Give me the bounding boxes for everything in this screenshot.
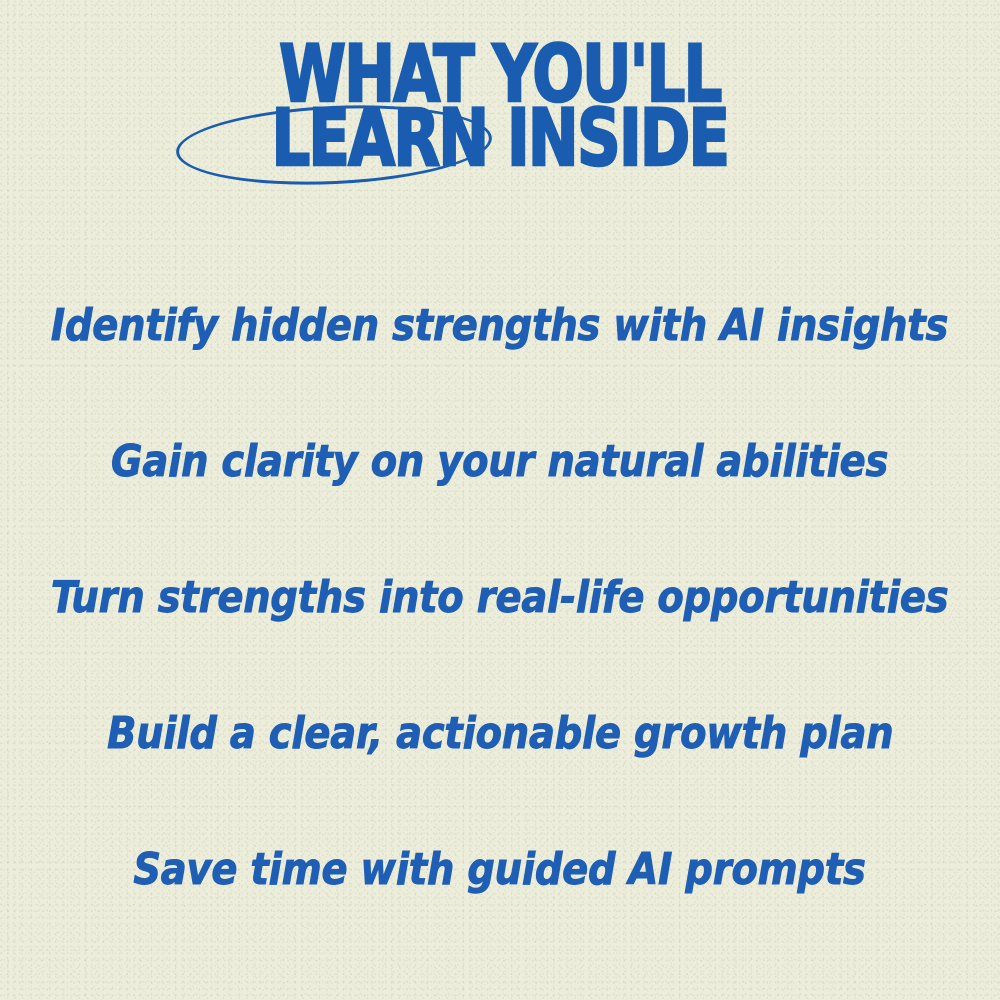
page-title-line-2: LEARN INSIDE bbox=[70, 108, 930, 170]
benefit-label: Turn strengths into real-life opportunit… bbox=[51, 575, 949, 621]
list-item: Gain clarity on your natural abilities bbox=[0, 394, 1000, 530]
benefits-list: Identify hidden strengths with AI insigh… bbox=[0, 258, 1000, 938]
list-item: Build a clear, actionable growth plan bbox=[0, 666, 1000, 802]
poster-canvas: WHAT YOU'LL LEARN INSIDE Identify hidden… bbox=[0, 0, 1000, 1000]
benefit-label: Build a clear, actionable growth plan bbox=[107, 711, 893, 757]
benefit-label: Save time with guided AI prompts bbox=[134, 847, 866, 893]
list-item: Identify hidden strengths with AI insigh… bbox=[0, 258, 1000, 394]
page-title: WHAT YOU'LL LEARN INSIDE bbox=[0, 44, 1000, 171]
list-item: Turn strengths into real-life opportunit… bbox=[0, 530, 1000, 666]
benefit-label: Identify hidden strengths with AI insigh… bbox=[51, 303, 948, 349]
benefit-label: Gain clarity on your natural abilities bbox=[111, 439, 888, 485]
list-item: Save time with guided AI prompts bbox=[0, 802, 1000, 938]
